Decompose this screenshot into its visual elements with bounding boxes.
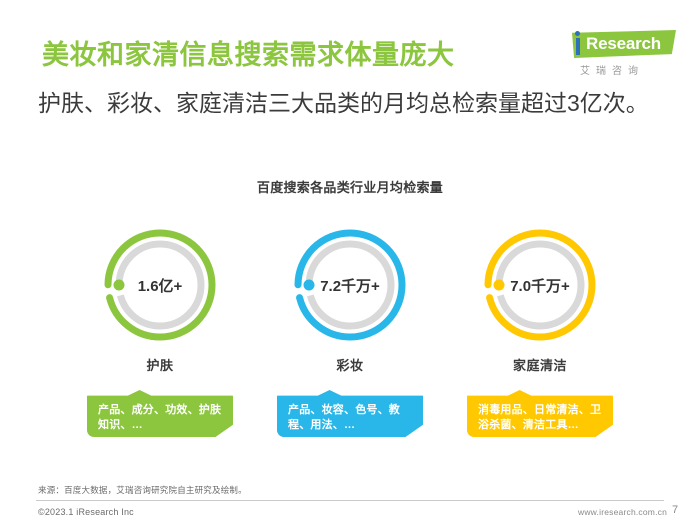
page-subtitle: 护肤、彩妆、家庭清洁三大品类的月均总检索量超过3亿次。	[38, 84, 649, 118]
callout-makeup: 产品、妆容、色号、教程、用法、…	[277, 390, 423, 437]
callout-skincare: 产品、成分、功效、护肤知识、…	[87, 390, 233, 437]
footer-divider	[36, 500, 664, 501]
donut-track-ring	[499, 244, 581, 326]
donut-group-makeup: 7.2千万+ 彩妆	[255, 228, 445, 374]
logo-chinese-name: 艾瑞咨询	[580, 62, 644, 77]
donut-marker-dot-icon	[114, 280, 125, 291]
callout-row: 产品、成分、功效、护肤知识、… 产品、妆容、色号、教程、用法、… 消毒用品、日常…	[0, 390, 700, 460]
donut-category-label: 护肤	[146, 355, 173, 374]
donut-svg	[293, 228, 407, 342]
slide-header: 美妆和家清信息搜索需求体量庞大 护肤、彩妆、家庭清洁三大品类的月均总检索量超过3…	[0, 0, 700, 130]
callout-text: 产品、妆容、色号、教程、用法、…	[288, 404, 400, 431]
callout-text: 消毒用品、日常清洁、卫浴杀菌、清洁工具…	[478, 404, 601, 431]
callout-text: 产品、成分、功效、护肤知识、…	[98, 404, 221, 431]
donut-chart-skincare: 1.6亿+	[103, 228, 217, 342]
callout-col-skincare: 产品、成分、功效、护肤知识、…	[65, 390, 255, 437]
callout-col-home-cleaning: 消毒用品、日常清洁、卫浴杀菌、清洁工具…	[445, 390, 635, 437]
donut-svg	[483, 228, 597, 342]
logo-mark: Research	[554, 30, 676, 60]
donut-chart-row: 1.6亿+ 护肤 7.2千万+ 彩妆 7.0千万+ 家庭清洁	[0, 228, 700, 378]
page-title: 美妆和家清信息搜索需求体量庞大	[42, 33, 455, 72]
donut-category-label: 彩妆	[336, 355, 363, 374]
copyright-text: ©2023.1 iResearch Inc	[38, 507, 134, 517]
donut-chart-makeup: 7.2千万+	[293, 228, 407, 342]
logo-wordmark: Research	[586, 33, 661, 55]
website-url: www.iresearch.com.cn	[578, 507, 667, 517]
callout-home-cleaning: 消毒用品、日常清洁、卫浴杀菌、清洁工具…	[467, 390, 613, 437]
donut-svg	[103, 228, 217, 342]
callout-col-makeup: 产品、妆容、色号、教程、用法、…	[255, 390, 445, 437]
page-number: 7	[672, 504, 678, 516]
donut-track-ring	[309, 244, 391, 326]
donut-group-skincare: 1.6亿+ 护肤	[65, 228, 255, 374]
chart-title: 百度搜索各品类行业月均检索量	[0, 177, 700, 196]
donut-marker-dot-icon	[494, 280, 505, 291]
source-note: 来源：百度大数据，艾瑞咨询研究院自主研究及绘制。	[38, 484, 247, 496]
donut-category-label: 家庭清洁	[513, 355, 567, 374]
donut-group-home-cleaning: 7.0千万+ 家庭清洁	[445, 228, 635, 374]
donut-chart-home-cleaning: 7.0千万+	[483, 228, 597, 342]
donut-track-ring	[119, 244, 201, 326]
logo-i-dot-icon	[575, 31, 580, 36]
iresearch-logo: Research 艾瑞咨询	[554, 30, 676, 82]
logo-i-stem-icon	[576, 38, 580, 55]
donut-marker-dot-icon	[304, 280, 315, 291]
